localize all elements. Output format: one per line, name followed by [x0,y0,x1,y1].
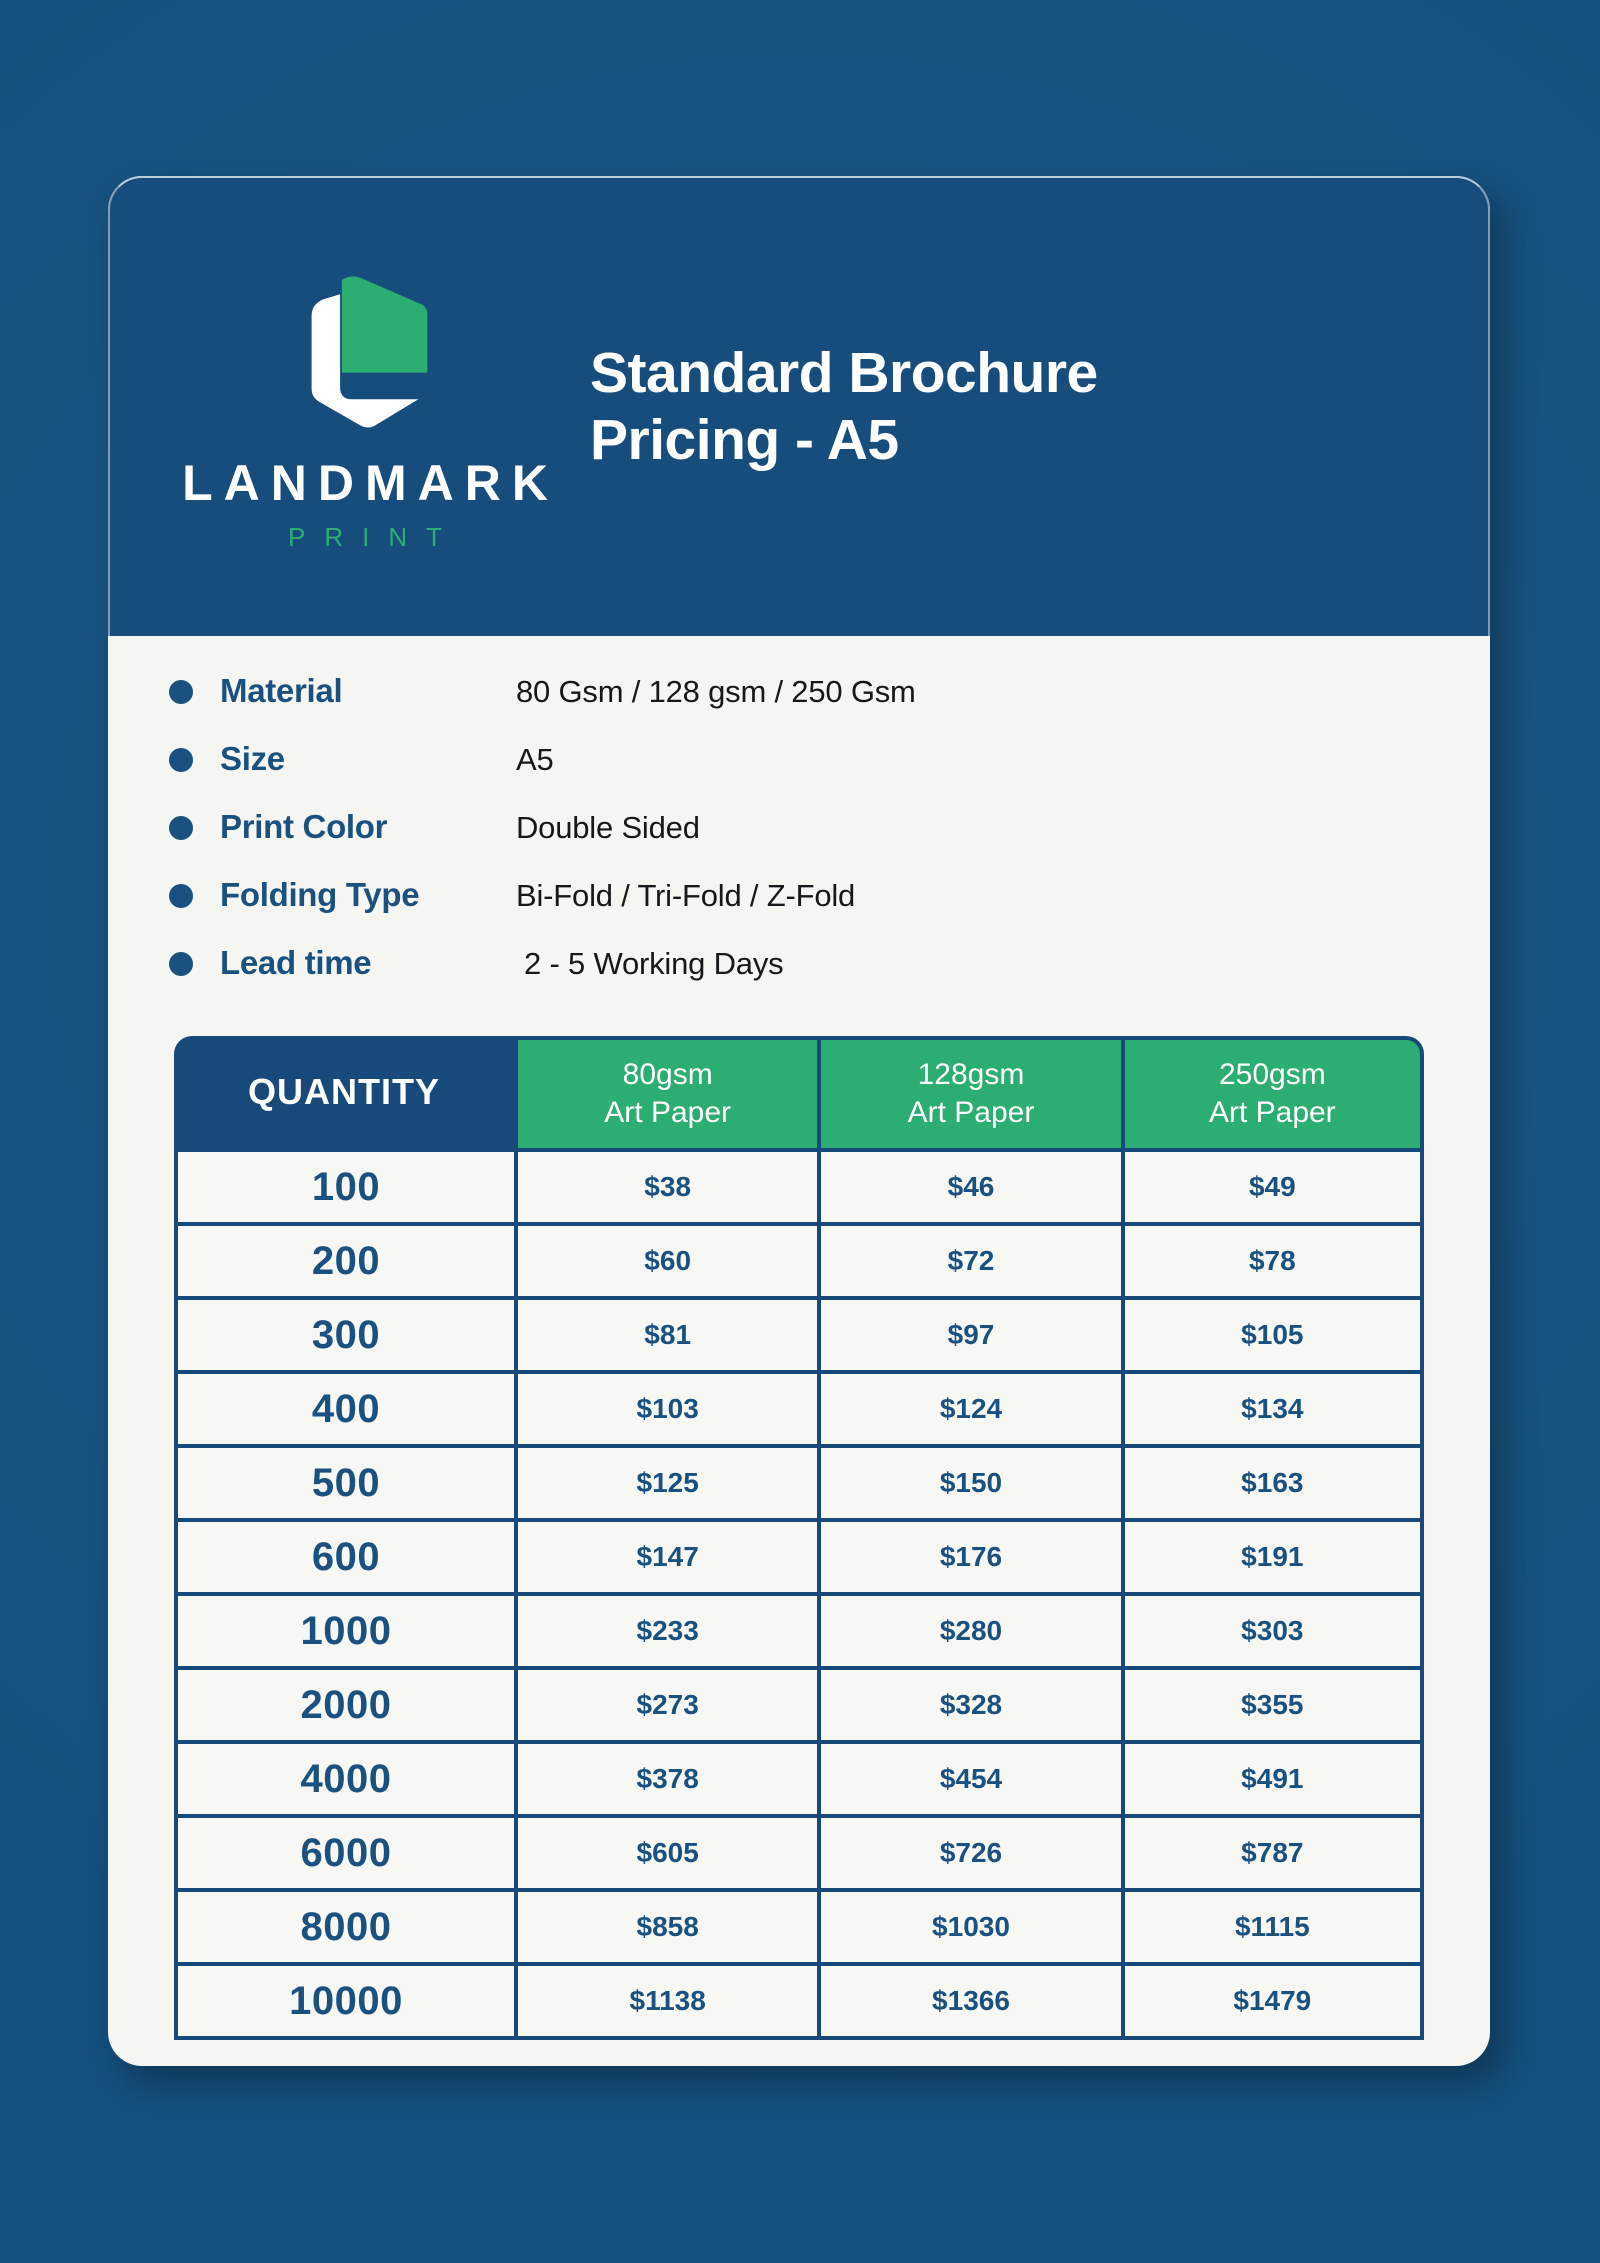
cell-price-250gsm: $303 [1121,1596,1424,1670]
card-header: LANDMARK PRINT Standard Brochure Pricing… [108,176,1490,636]
column-header-80gsm-weight: 80gsm [518,1056,817,1094]
table-row: 500 $125 $150 $163 [174,1448,1424,1522]
page-title-line1: Standard Brochure [590,340,1428,407]
column-header-250gsm-weight: 250gsm [1125,1056,1420,1094]
cell-price-128gsm: $72 [817,1226,1120,1300]
cell-quantity: 10000 [174,1966,514,2040]
cell-price-80gsm: $1138 [514,1966,817,2040]
spec-label: Print Color [220,808,516,846]
bullet-icon [168,951,194,977]
cell-quantity: 600 [174,1522,514,1596]
spec-label: Lead time [220,944,516,982]
cell-price-250gsm: $355 [1121,1670,1424,1744]
cell-price-128gsm: $280 [817,1596,1120,1670]
table-row: 2000 $273 $328 $355 [174,1670,1424,1744]
table-row: 8000 $858 $1030 $1115 [174,1892,1424,1966]
cell-price-250gsm: $163 [1121,1448,1424,1522]
spec-row-lead-time: Lead time 2 - 5 Working Days [168,944,1490,1012]
brand-subtitle: PRINT [269,524,461,550]
spec-row-print-color: Print Color Double Sided [168,808,1490,876]
cell-price-250gsm: $1115 [1121,1892,1424,1966]
cell-price-128gsm: $124 [817,1374,1120,1448]
cell-price-250gsm: $491 [1121,1744,1424,1818]
brand-name: LANDMARK [171,458,559,508]
cell-price-80gsm: $125 [514,1448,817,1522]
column-header-80gsm: 80gsm Art Paper [514,1036,817,1152]
cell-price-80gsm: $60 [514,1226,817,1300]
bullet-icon [168,883,194,909]
table-row: 4000 $378 $454 $491 [174,1744,1424,1818]
column-header-80gsm-sub: Art Paper [518,1094,817,1132]
cell-quantity: 300 [174,1300,514,1374]
spec-row-size: Size A5 [168,740,1490,808]
cell-price-80gsm: $378 [514,1744,817,1818]
cell-price-80gsm: $233 [514,1596,817,1670]
cell-price-128gsm: $150 [817,1448,1120,1522]
cell-price-128gsm: $328 [817,1670,1120,1744]
cell-price-80gsm: $38 [514,1152,817,1226]
cell-price-128gsm: $97 [817,1300,1120,1374]
column-header-250gsm-sub: Art Paper [1125,1094,1420,1132]
bullet-icon [168,815,194,841]
cell-price-80gsm: $858 [514,1892,817,1966]
column-header-128gsm-weight: 128gsm [821,1056,1120,1094]
spec-value: 2 - 5 Working Days [516,946,783,982]
spec-list: Material 80 Gsm / 128 gsm / 250 Gsm Size… [108,636,1490,1012]
cell-price-80gsm: $147 [514,1522,817,1596]
cell-price-250gsm: $49 [1121,1152,1424,1226]
cell-price-128gsm: $1366 [817,1966,1120,2040]
cell-quantity: 200 [174,1226,514,1300]
cell-price-250gsm: $78 [1121,1226,1424,1300]
cell-quantity: 100 [174,1152,514,1226]
pricing-table: QUANTITY 80gsm Art Paper 128gsm Art Pape… [174,1036,1424,2040]
cell-price-80gsm: $605 [514,1818,817,1892]
table-row: 300 $81 $97 $105 [174,1300,1424,1374]
cell-quantity: 1000 [174,1596,514,1670]
column-header-128gsm: 128gsm Art Paper [817,1036,1120,1152]
spec-value: Bi-Fold / Tri-Fold / Z-Fold [516,878,855,914]
cell-price-250gsm: $134 [1121,1374,1424,1448]
spec-value: A5 [516,742,554,778]
spec-value: 80 Gsm / 128 gsm / 250 Gsm [516,674,916,710]
cell-quantity: 500 [174,1448,514,1522]
pricing-table-body: 100 $38 $46 $49 200 $60 $72 $78 300 $81 … [174,1152,1424,2040]
table-row: 6000 $605 $726 $787 [174,1818,1424,1892]
landmark-l-logo-icon [276,264,454,442]
pricing-table-wrap: QUANTITY 80gsm Art Paper 128gsm Art Pape… [174,1036,1424,2040]
cell-price-128gsm: $176 [817,1522,1120,1596]
table-row: 200 $60 $72 $78 [174,1226,1424,1300]
cell-quantity: 2000 [174,1670,514,1744]
cell-price-128gsm: $1030 [817,1892,1120,1966]
cell-price-128gsm: $46 [817,1152,1120,1226]
spec-label: Size [220,740,516,778]
page-title: Standard Brochure Pricing - A5 [580,340,1488,475]
cell-price-128gsm: $454 [817,1744,1120,1818]
bullet-icon [168,747,194,773]
bullet-icon [168,679,194,705]
table-row: 400 $103 $124 $134 [174,1374,1424,1448]
cell-quantity: 6000 [174,1818,514,1892]
cell-quantity: 4000 [174,1744,514,1818]
column-header-250gsm: 250gsm Art Paper [1121,1036,1424,1152]
cell-price-80gsm: $103 [514,1374,817,1448]
table-row: 1000 $233 $280 $303 [174,1596,1424,1670]
cell-quantity: 400 [174,1374,514,1448]
table-row: 10000 $1138 $1366 $1479 [174,1966,1424,2040]
table-header-row: QUANTITY 80gsm Art Paper 128gsm Art Pape… [174,1036,1424,1152]
spec-row-folding-type: Folding Type Bi-Fold / Tri-Fold / Z-Fold [168,876,1490,944]
cell-quantity: 8000 [174,1892,514,1966]
table-row: 600 $147 $176 $191 [174,1522,1424,1596]
cell-price-80gsm: $273 [514,1670,817,1744]
page-title-line2: Pricing - A5 [590,407,1428,474]
pricing-card: LANDMARK PRINT Standard Brochure Pricing… [108,176,1490,2066]
column-header-quantity: QUANTITY [174,1036,514,1152]
cell-price-80gsm: $81 [514,1300,817,1374]
spec-label: Folding Type [220,876,516,914]
table-row: 100 $38 $46 $49 [174,1152,1424,1226]
spec-row-material: Material 80 Gsm / 128 gsm / 250 Gsm [168,672,1490,740]
cell-price-250gsm: $105 [1121,1300,1424,1374]
spec-label: Material [220,672,516,710]
cell-price-250gsm: $191 [1121,1522,1424,1596]
brand-block: LANDMARK PRINT [110,264,580,550]
cell-price-250gsm: $787 [1121,1818,1424,1892]
spec-value: Double Sided [516,810,700,846]
cell-price-250gsm: $1479 [1121,1966,1424,2040]
column-header-128gsm-sub: Art Paper [821,1094,1120,1132]
cell-price-128gsm: $726 [817,1818,1120,1892]
